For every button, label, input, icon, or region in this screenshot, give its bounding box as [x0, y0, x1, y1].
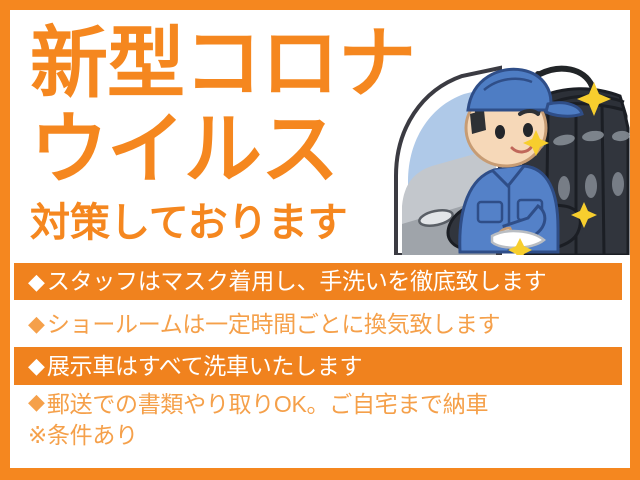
covid-measures-poster: 新型コロナ ウイルス 対策しております [0, 0, 640, 480]
list-item-label: ショールームは一定時間ごとに換気致します [47, 311, 500, 337]
headline-line-2: ウイルス [30, 106, 338, 192]
list-item-label: 郵送での書類やり取りOK。ご自宅まで納車 [47, 391, 488, 417]
diamond-bullet-icon: ◆ [28, 391, 45, 413]
worker-cleaning-car-seat-illustration [388, 56, 630, 255]
list-item: ◆ 展示車はすべて洗車いたします [14, 347, 622, 385]
list-item: ◆ スタッフはマスク着用し、手洗いを徹底致します [14, 263, 622, 300]
list-item-label: 展示車はすべて洗車いたします [47, 353, 362, 379]
list-item-note: ※条件あり [28, 422, 488, 448]
diamond-bullet-icon: ◆ [28, 355, 45, 377]
poster-inner-panel: 新型コロナ ウイルス 対策しております [10, 10, 630, 468]
headline-line-1: 新型コロナ [30, 20, 415, 106]
list-item-label: スタッフはマスク着用し、手洗いを徹底致します [47, 268, 546, 294]
list-item: ◆ 郵送での書類やり取りOK。ご自宅まで納車 ※条件あり [14, 389, 622, 461]
list-item: ◆ ショールームは一定時間ごとに換気致します [14, 304, 622, 344]
headline-line-3: 対策しております [30, 200, 348, 246]
diamond-bullet-icon: ◆ [28, 271, 45, 293]
diamond-bullet-icon: ◆ [28, 313, 45, 335]
